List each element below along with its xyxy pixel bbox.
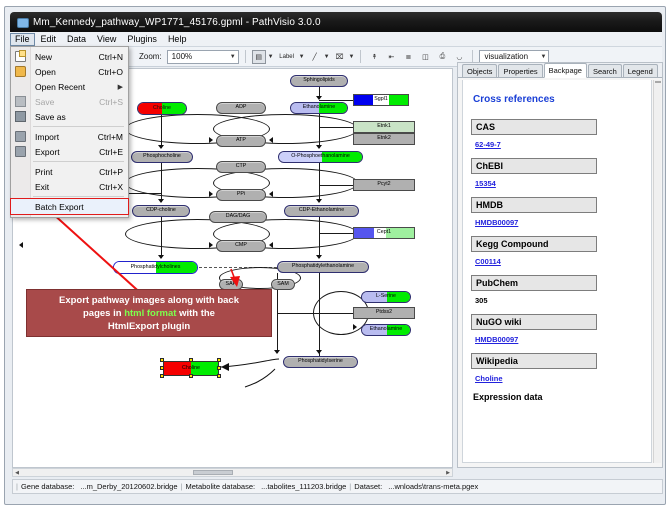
xref-block-hmdb: HMDB HMDB00097 [471,197,643,227]
datanode-button[interactable]: ▤ [252,50,266,64]
menu-item-label: Open [35,67,98,77]
menu-view[interactable]: View [92,33,121,46]
chevron-right-icon: ▶ [118,83,123,91]
xref-header-hmdb: HMDB [471,197,597,213]
export-icon [15,146,26,157]
shape-button[interactable]: ⌧ [333,50,347,64]
toolbar-separator [245,50,246,63]
menu-item-label: Save [35,97,99,107]
xref-link-hmdb[interactable]: HMDB00097 [475,218,518,227]
menu-item-accel: Ctrl+O [98,67,123,77]
scroll-right-button[interactable]: ▶ [444,469,452,476]
xref-value-chebi: 15354 [475,179,643,188]
save-icon [15,96,26,107]
callout-line-1: Export pathway images along with back [59,295,239,306]
menu-plugins[interactable]: Plugins [122,33,162,46]
chevron-down-icon: ▼ [230,54,236,60]
tab-backpage[interactable]: Backpage [544,63,587,78]
menu-data[interactable]: Data [62,33,91,46]
menu-item-save-as[interactable]: Save as [11,109,128,124]
xref-header-pubchem: PubChem [471,275,597,291]
menu-separator [33,126,124,127]
menu-item-exit[interactable]: Exit Ctrl+X [11,179,128,194]
xref-link-cas[interactable]: 62-49-7 [475,140,501,149]
xref-link-chebi[interactable]: 15354 [475,179,496,188]
callout-line-2a: pages in [83,308,124,319]
chevron-down-icon-2: ▼ [541,54,547,60]
xref-link-wikipedia[interactable]: Choline [475,374,503,383]
title-bar: Mm_Kennedy_pathway_WP1771_45176.gpml - P… [10,12,662,32]
visualization-value: visualization [484,52,528,61]
window-title: Mm_Kennedy_pathway_WP1771_45176.gpml - P… [33,17,321,28]
xref-header-chebi: ChEBI [471,158,597,174]
menu-item-accel: Ctrl+S [99,97,123,107]
zoom-label: Zoom: [139,52,162,61]
xref-link-nugo[interactable]: HMDB00097 [475,335,518,344]
cross-references-title: Cross references [473,94,643,105]
menu-file[interactable]: File [10,33,35,46]
open-folder-icon [15,66,26,77]
menu-item-accel: Ctrl+M [98,132,123,142]
panel-vertical-scrollbar[interactable] [653,80,661,463]
zoom-value: 100% [172,52,192,61]
line-button[interactable]: ╱ [308,50,322,64]
tab-search[interactable]: Search [588,64,622,77]
distribute-vertical-button[interactable]: ≣ [401,50,415,64]
scroll-left-button[interactable]: ◀ [13,469,21,476]
xref-block-wikipedia: Wikipedia Choline [471,353,643,383]
xref-block-kegg: Kegg Compound C00114 [471,236,643,266]
scrollbar-thumb[interactable] [655,81,661,83]
scrollbar-thumb[interactable] [193,470,233,475]
menu-separator-2 [33,161,124,162]
xref-value-wikipedia: Choline [475,374,643,383]
xref-value-nugo: HMDB00097 [475,335,643,344]
callout-line-2b: with the [176,308,215,319]
menu-item-export[interactable]: Export Ctrl+E [11,144,128,159]
canvas-horizontal-scrollbar[interactable]: ◀ ▶ [12,468,453,477]
menu-bar: File Edit Data View Plugins Help [10,32,662,47]
file-menu-dropdown[interactable]: New Ctrl+N Open Ctrl+O Open Recent ▶ Sav… [10,46,129,218]
expression-data-title: Expression data [473,392,643,402]
save-as-icon [15,111,26,122]
xref-header-wikipedia: Wikipedia [471,353,597,369]
menu-item-accel: Ctrl+X [99,182,123,192]
new-file-icon [15,51,26,62]
menu-item-open-recent[interactable]: Open Recent ▶ [11,79,128,94]
menu-item-accel: Ctrl+P [99,167,123,177]
xref-value-cas: 62-49-7 [475,140,643,149]
status-metabolite-db-value: ...tabolites_111203.bridge [258,482,349,491]
menu-item-print[interactable]: Print Ctrl+P [11,164,128,179]
print-button[interactable]: ⎙ [435,50,449,64]
tab-objects[interactable]: Objects [462,64,497,77]
status-dataset-value: ...wnloads\trans-meta.pgex [385,482,481,491]
menu-edit[interactable]: Edit [36,33,62,46]
menu-item-save: Save Ctrl+S [11,94,128,109]
menu-item-accel: Ctrl+E [99,147,123,157]
menu-item-batch-export[interactable]: Batch Export [11,199,128,214]
pathvisio-icon [16,16,28,28]
shape-dropdown-icon[interactable]: ▼ [349,54,355,60]
backpage-content: Cross references CAS 62-49-7 ChEBI 15354… [462,80,652,463]
menu-item-label: Batch Export [35,202,123,212]
app-window: Mm_Kennedy_pathway_WP1771_45176.gpml - P… [0,0,670,509]
xref-block-nugo: NuGO wiki HMDB00097 [471,314,643,344]
align-top-button[interactable]: ↟ [367,50,381,64]
annotation-callout: Export pathway images along with back pa… [26,289,272,337]
menu-item-label: Exit [35,182,99,192]
menu-item-import[interactable]: Import Ctrl+M [11,129,128,144]
panel-tabs: Objects Properties Backpage Search Legen… [458,63,662,78]
xref-block-cas: CAS 62-49-7 [471,119,643,149]
callout-highlight: html format [124,308,176,319]
xref-header-cas: CAS [471,119,597,135]
xref-block-pubchem: PubChem 305 [471,275,643,305]
menu-item-label: Import [35,132,98,142]
menu-item-label: Open Recent [35,82,118,92]
side-panel: Objects Properties Backpage Search Legen… [457,62,663,468]
zoom-combobox[interactable]: 100% ▼ [167,50,239,64]
menu-separator-3 [33,196,124,197]
xref-header-nugo: NuGO wiki [471,314,597,330]
align-left-button[interactable]: ⇤ [384,50,398,64]
callout-line-3: HtmlExport plugin [108,321,190,332]
label-button[interactable]: Label [277,50,297,64]
xref-link-kegg[interactable]: C00114 [475,257,501,266]
menu-item-new[interactable]: New Ctrl+N [11,49,128,64]
datanode-dropdown-icon[interactable]: ▼ [268,54,274,60]
menu-item-label: New [35,52,99,62]
toolbar-separator-2 [360,50,361,63]
status-dataset-label: Dataset: [351,482,385,491]
xref-header-kegg: Kegg Compound [471,236,597,252]
xref-value-kegg: C00114 [475,257,643,266]
xref-value-hmdb: HMDB00097 [475,218,643,227]
import-icon [15,131,26,142]
label-dropdown-icon[interactable]: ▼ [299,54,305,60]
status-gene-db-label: Gene database: [18,482,77,491]
status-metabolite-db-label: Metabolite database: [182,482,258,491]
menu-help[interactable]: Help [163,33,192,46]
distribute-horizontal-button[interactable]: ◫ [418,50,432,64]
menu-item-label: Export [35,147,99,157]
status-gene-db-value: ...m_Derby_20120602.bridge [77,482,180,491]
xref-value-pubchem: 305 [475,296,643,305]
menu-item-label: Save as [35,112,123,122]
xref-text-pubchem: 305 [475,296,488,305]
menu-item-label: Print [35,167,99,177]
tab-legend[interactable]: Legend [623,64,658,77]
menu-item-accel: Ctrl+N [99,52,123,62]
xref-block-chebi: ChEBI 15354 [471,158,643,188]
status-bar: | Gene database: ...m_Derby_20120602.bri… [12,479,663,494]
line-dropdown-icon[interactable]: ▼ [324,54,330,60]
tab-properties[interactable]: Properties [498,64,542,77]
menu-item-open[interactable]: Open Ctrl+O [11,64,128,79]
